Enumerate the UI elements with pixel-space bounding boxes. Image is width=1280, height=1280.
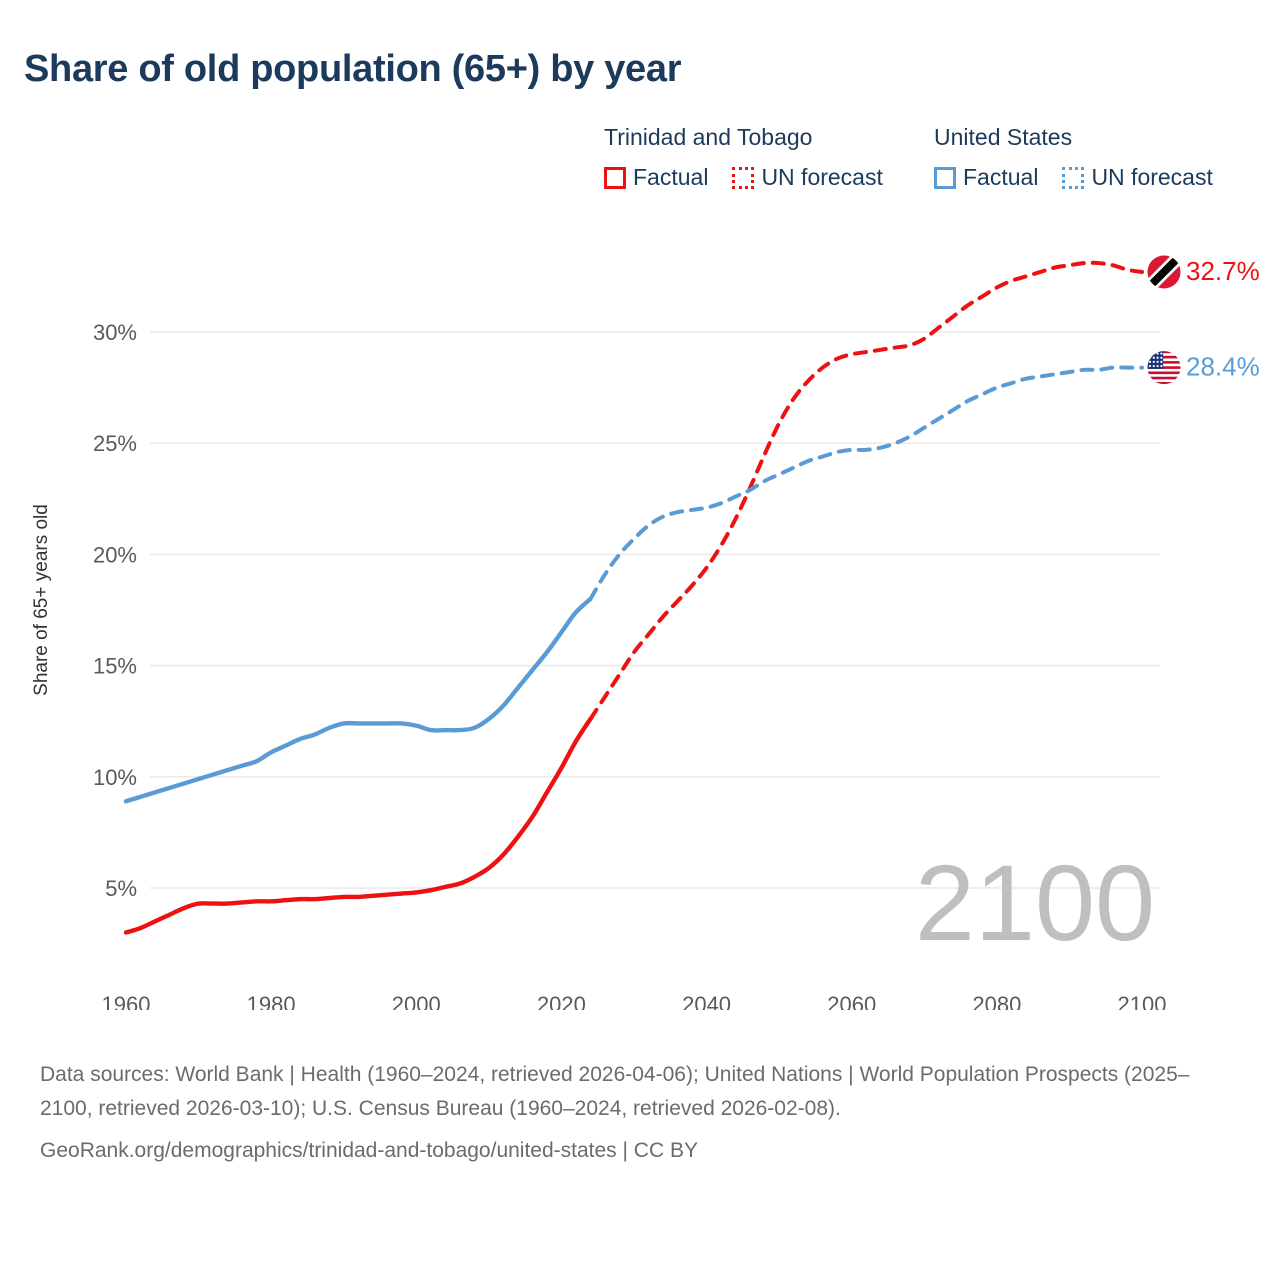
series-line-trinidad-and-tobago-factual — [126, 719, 590, 933]
united-states-flag-icon — [1147, 351, 1181, 385]
x-tick-label: 2020 — [537, 992, 586, 1010]
x-tick-label: 1980 — [247, 992, 296, 1010]
y-tick-label: 20% — [93, 542, 137, 567]
x-tick-label: 1960 — [102, 992, 151, 1010]
x-tick-label: 2040 — [682, 992, 731, 1010]
footer-attribution-link[interactable]: GeoRank.org/demographics/trinidad-and-to… — [40, 1134, 1240, 1168]
x-tick-label: 2000 — [392, 992, 441, 1010]
x-axis-ticks: 19601980200020202040206020802100 — [102, 992, 1167, 1010]
gridlines — [150, 332, 1160, 888]
chart-page: Share of old population (65+) by year Tr… — [0, 0, 1280, 1280]
y-tick-label: 25% — [93, 431, 137, 456]
trinidad-and-tobago-flag-icon — [1147, 255, 1181, 289]
y-tick-label: 15% — [93, 654, 137, 679]
data-series — [126, 263, 1142, 933]
x-tick-label: 2060 — [827, 992, 876, 1010]
line-chart-svg: 5%10%15%20%25%30% 1960198020002020204020… — [0, 0, 1280, 1010]
footer-data-sources: Data sources: World Bank | Health (1960–… — [40, 1058, 1240, 1126]
x-tick-label: 2100 — [1118, 992, 1167, 1010]
y-tick-label: 5% — [105, 876, 137, 901]
series-line-united-states-factual — [126, 599, 590, 801]
y-tick-label: 10% — [93, 765, 137, 790]
chart-plot-area: 5%10%15%20%25%30% 1960198020002020204020… — [0, 0, 1280, 1000]
x-tick-label: 2080 — [972, 992, 1021, 1010]
end-value-label-united-states: 28.4% — [1186, 351, 1260, 381]
y-axis-ticks: 5%10%15%20%25%30% — [93, 320, 137, 901]
y-axis-label: Share of 65+ years old — [31, 504, 52, 696]
y-tick-label: 30% — [93, 320, 137, 345]
series-line-united-states-un-forecast — [590, 367, 1142, 598]
end-value-label-trinidad-and-tobago: 32.7% — [1186, 256, 1260, 286]
series-line-trinidad-and-tobago-un-forecast — [590, 263, 1142, 719]
footer: Data sources: World Bank | Health (1960–… — [40, 1058, 1240, 1168]
end-markers: 32.7%28.4% — [1147, 255, 1260, 385]
year-watermark: 2100 — [915, 842, 1155, 963]
